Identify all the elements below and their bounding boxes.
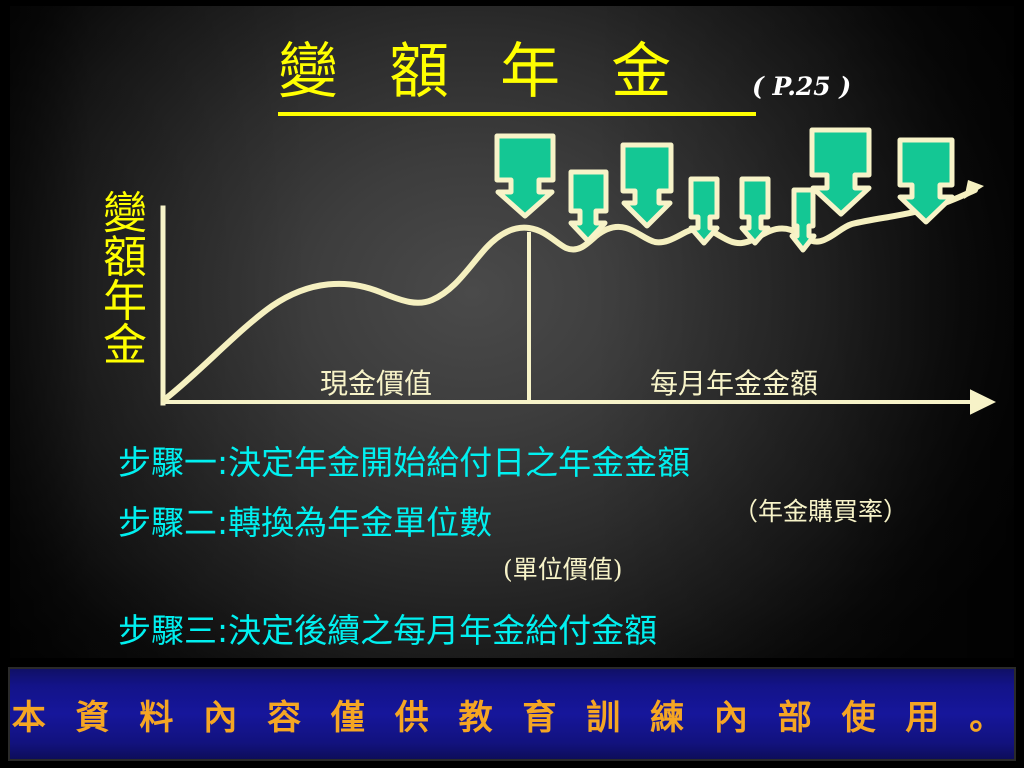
footer-banner: 本 資 料 內 容 僅 供 教 育 訓 練 內 部 使 用 。 [8, 667, 1016, 761]
payout-box [497, 136, 553, 216]
payout-box [623, 145, 671, 226]
chart-axes [161, 208, 978, 403]
step-two-text: 步驟二:轉換為年金單位數 [118, 496, 492, 544]
step-one-text: 步驟一:決定年金開始給付日之年金金額 [118, 436, 690, 484]
segment-label-cash-value: 現金價值 [320, 362, 432, 402]
payout-box [792, 190, 814, 250]
annotation-unit-value: (單位價值) [503, 550, 623, 586]
payout-markers [497, 130, 952, 250]
payout-box [742, 179, 768, 243]
payout-box [691, 179, 717, 243]
footer-banner-text: 本 資 料 內 容 僅 供 教 育 訓 練 內 部 使 用 。 [12, 690, 1013, 739]
payout-box [812, 130, 869, 214]
annotation-purchase-rate: （年金購買率） [733, 492, 908, 528]
step-three-text: 步驟三:決定後續之每月年金給付金額 [118, 604, 657, 652]
slide-root: 變 額 年 金 ( P.25 ) 變 額 年 金 [0, 0, 1024, 768]
payout-box [900, 140, 952, 222]
payout-box [571, 172, 606, 241]
curve-arrowhead [964, 180, 984, 199]
segment-label-monthly-annuity: 每月年金金額 [650, 362, 818, 402]
